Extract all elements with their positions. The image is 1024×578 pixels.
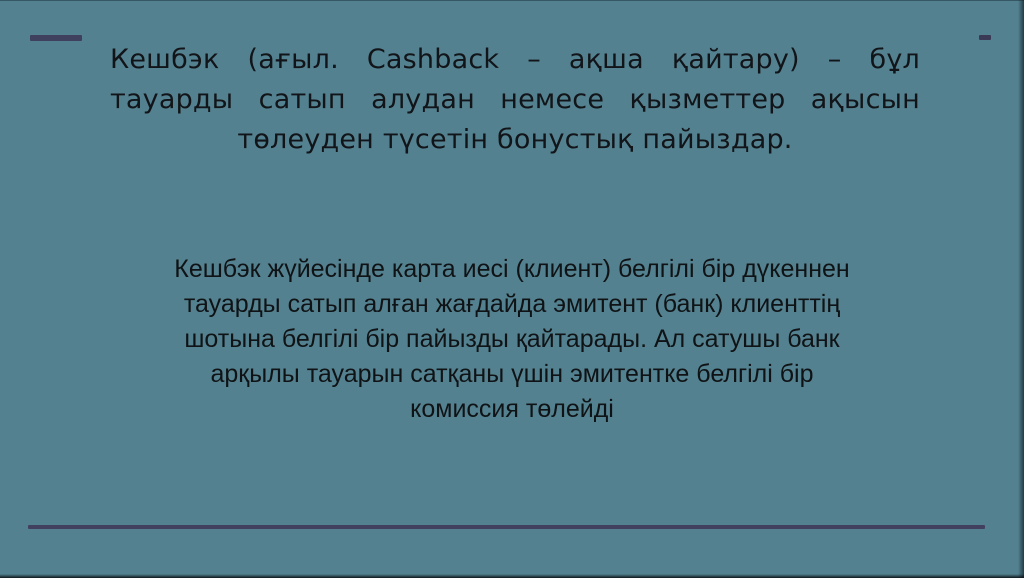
body-line-2: тауарды сатып алған жағдайда эмитент (ба…: [62, 287, 962, 322]
body-line-3: шотына белгілі бір пайызды қайтарады. Ал…: [62, 322, 962, 357]
presentation-slide: Кешбэк (ағыл. Cashback – ақша қайтару) –…: [0, 0, 1024, 578]
heading-line-1: Кешбэк (ағыл. Cashback – ақша қайтару) –…: [110, 40, 920, 80]
accent-rule-decoration: [28, 525, 985, 529]
heading-line-3: төлеуден түсетін бонустық пайыздар.: [110, 120, 920, 160]
body-line-4: арқылы тауарын сатқаны үшін эмитентке бе…: [62, 357, 962, 392]
heading-line-2: тауарды сатып алудан немесе қызметтер ақ…: [110, 80, 920, 120]
slide-bottom-edge: [0, 574, 1024, 578]
slide-right-edge: [1018, 0, 1024, 578]
accent-bar-decoration: [30, 35, 82, 41]
slide-heading: Кешбэк (ағыл. Cashback – ақша қайтару) –…: [110, 40, 920, 160]
slide-top-edge: [0, 0, 1024, 1]
accent-dash-decoration: [979, 35, 991, 40]
body-line-5: комиссия төлейді: [62, 392, 962, 427]
body-line-1: Кешбэк жүйесінде карта иесі (клиент) бел…: [62, 252, 962, 287]
slide-body: Кешбэк жүйесінде карта иесі (клиент) бел…: [62, 252, 962, 427]
